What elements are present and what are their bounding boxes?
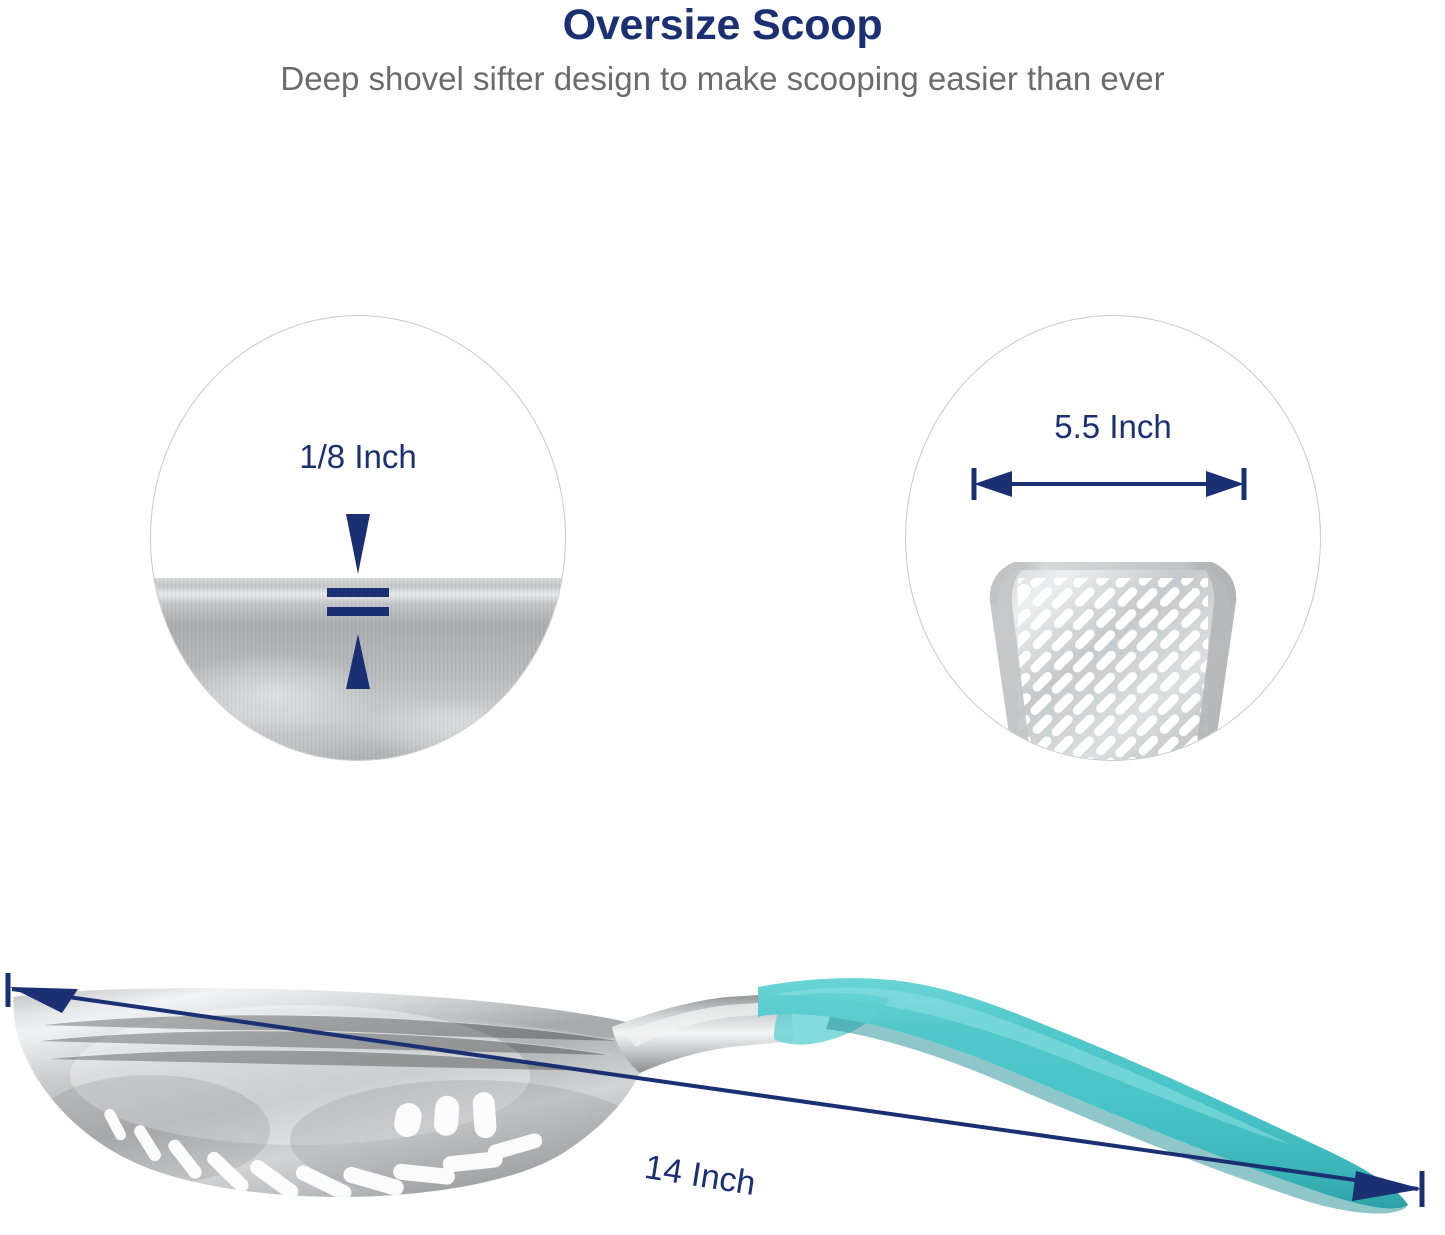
- product-infographic: Oversize Scoop Deep shovel sifter design…: [0, 0, 1445, 1235]
- edge-marker-top: [327, 588, 389, 597]
- dimension-label-thickness: 1/8 Inch: [299, 438, 416, 476]
- caret-down-icon: [346, 514, 370, 574]
- double-arrow-icon: [970, 464, 1248, 504]
- caret-up-icon: [346, 634, 370, 689]
- dimension-label-width: 5.5 Inch: [1054, 408, 1171, 446]
- page-title: Oversize Scoop: [0, 0, 1445, 48]
- detail-circle-thickness: 1/8 Inch: [150, 315, 566, 761]
- header: Oversize Scoop Deep shovel sifter design…: [0, 0, 1445, 98]
- edge-marker-bottom: [327, 607, 389, 616]
- scoop-head-photo: [984, 516, 1242, 761]
- detail-circle-width: 5.5 Inch: [905, 315, 1321, 761]
- page-subtitle: Deep shovel sifter design to make scoopi…: [0, 48, 1445, 97]
